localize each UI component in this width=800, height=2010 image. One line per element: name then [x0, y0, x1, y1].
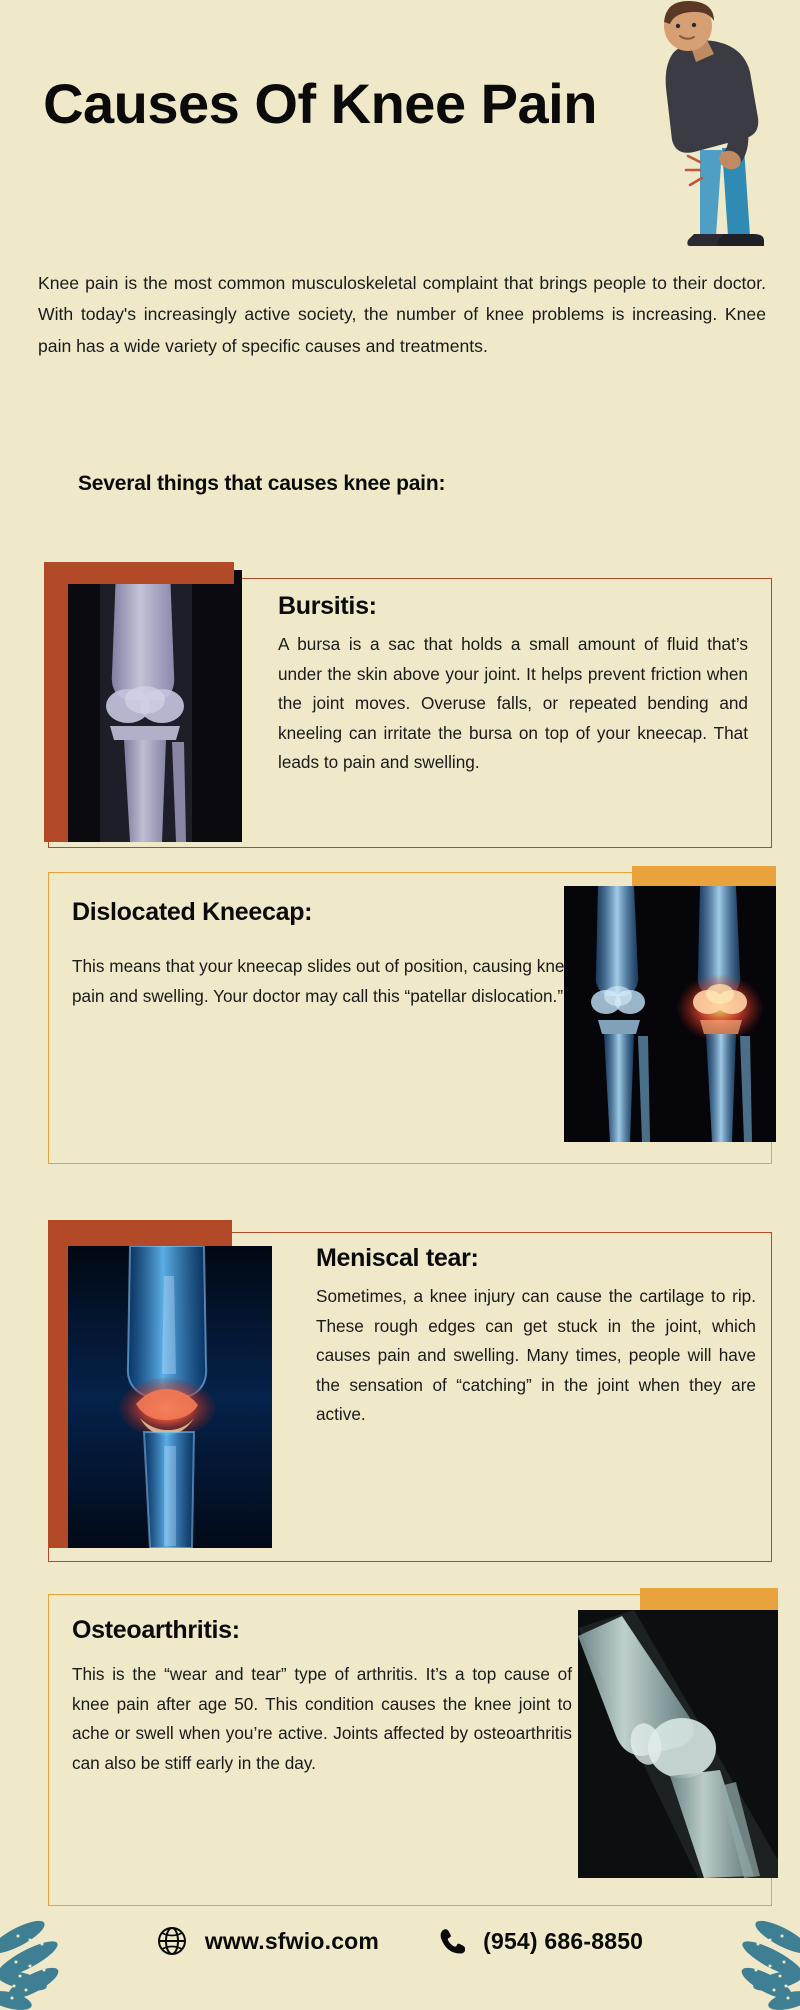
page-title: Causes Of Knee Pain [40, 68, 600, 140]
person-knee-pain-illustration [604, 0, 800, 272]
card-bursitis: Bursitis: A bursa is a sac that holds a … [48, 578, 772, 848]
card-title-osteoarthritis: Osteoarthritis: [72, 1616, 240, 1645]
card-title-bursitis: Bursitis: [278, 592, 377, 621]
card-body-bursitis: A bursa is a sac that holds a small amou… [278, 630, 748, 778]
card-body-osteoarthritis: This is the “wear and tear” type of arth… [72, 1660, 572, 1778]
card-meniscal-tear: Meniscal tear: Sometimes, a knee injury … [48, 1232, 772, 1562]
card-dislocated-kneecap: Dislocated Kneecap: This means that your… [48, 872, 772, 1164]
card-accent-bar [44, 570, 68, 842]
globe-icon [157, 1926, 187, 1956]
footer: www.sfwio.com (954) 686-8850 [0, 1912, 800, 2000]
section-subheading: Several things that causes knee pain: [78, 472, 445, 496]
knee-xray-lateral-image [578, 1610, 778, 1878]
knee-xray-frontal-image [44, 570, 242, 842]
card-osteoarthritis: Osteoarthritis: This is the “wear and te… [48, 1594, 772, 1906]
card-accent-bar [48, 1246, 68, 1548]
footer-contact-row: www.sfwio.com (954) 686-8850 [0, 1926, 800, 1956]
knee-xray-blue-pair-image [564, 886, 776, 1142]
leaf-decoration-right-icon [686, 1918, 800, 2010]
card-title-dislocated-kneecap: Dislocated Kneecap: [72, 898, 312, 927]
card-body-dislocated-kneecap: This means that your kneecap slides out … [72, 952, 574, 1011]
knee-anatomy-blue-red-image [66, 1246, 272, 1548]
phone-icon [437, 1927, 465, 1955]
card-accent-tab [44, 562, 234, 584]
card-accent-tab [48, 1220, 232, 1246]
footer-website[interactable]: www.sfwio.com [205, 1928, 379, 1955]
intro-paragraph: Knee pain is the most common musculoskel… [38, 268, 766, 362]
card-title-meniscal-tear: Meniscal tear: [316, 1244, 479, 1273]
footer-phone[interactable]: (954) 686-8850 [483, 1928, 643, 1955]
card-body-meniscal-tear: Sometimes, a knee injury can cause the c… [316, 1282, 756, 1430]
hero-section: Causes Of Knee Pain [0, 0, 800, 270]
infographic-page: Causes Of Knee Pain [0, 0, 800, 2000]
